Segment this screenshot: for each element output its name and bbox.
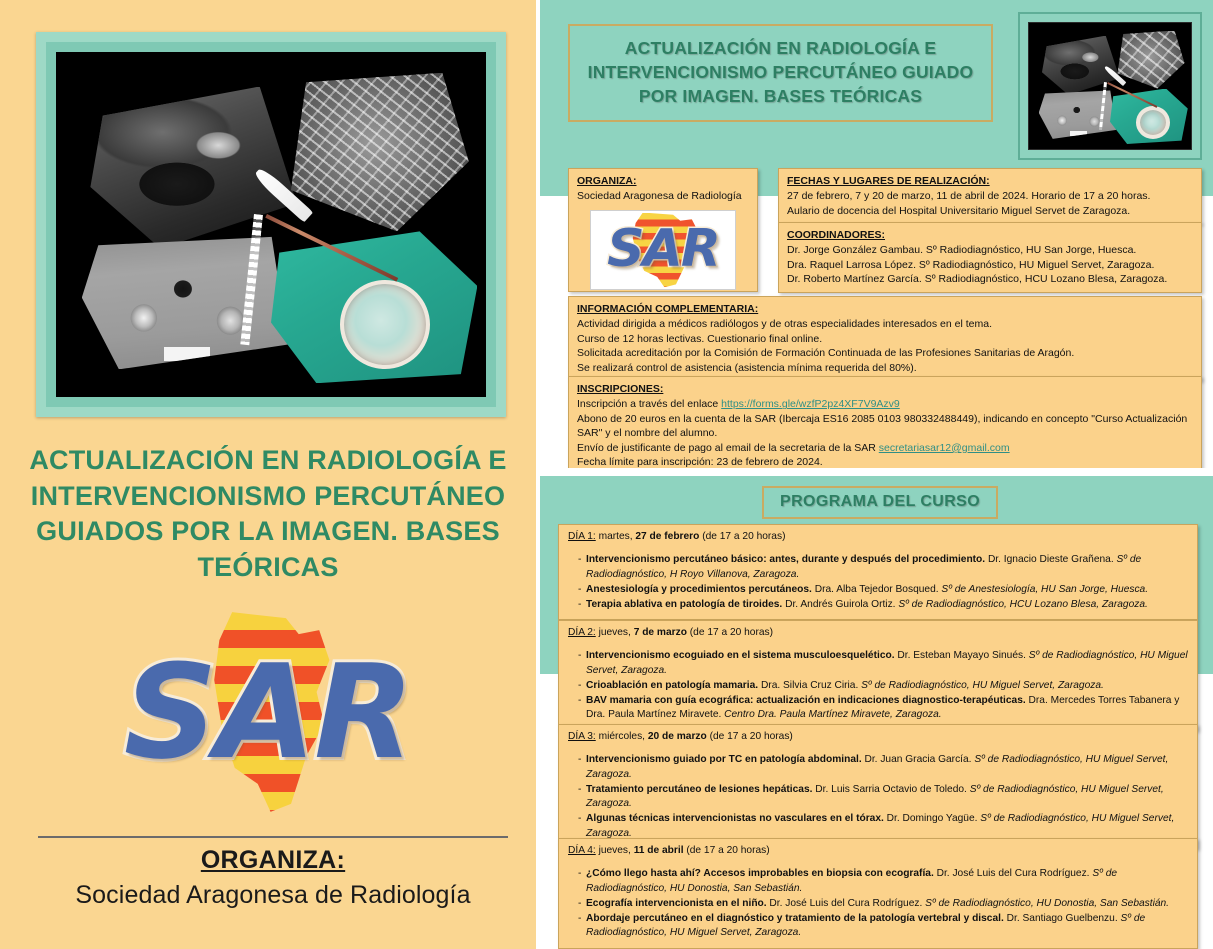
talk-speaker: Dr. Esteban Mayayo Sinués. [895,650,1029,661]
talk-title: Crioablación en patología mamaria. [586,680,758,691]
list-item: ¿Cómo llego hasta ahí? Accesos improbabl… [578,867,1188,896]
talk-speaker: Dr. Domingo Yagüe. [884,813,980,824]
informacion-line: Curso de 12 horas lectivas. Cuestionario… [577,332,1193,346]
informacion-line: Actividad dirigida a médicos radiólogos … [577,317,1193,331]
programa-title: PROGRAMA DEL CURSO [762,486,998,519]
coordinadores-box: COORDINADORES: Dr. Jorge González Gambau… [778,222,1202,293]
procedure-collage-image [56,52,486,397]
sar-logo-large: SAR [140,608,396,816]
talk-affiliation: Centro Dra. Paula Martínez Miravete, Zar… [724,709,941,720]
list-item: Intervencionismo guiado por TC en patolo… [578,753,1188,782]
cover-image-inner-band [46,42,496,407]
day-box: DÍA 4: jueves, 11 de abril (de 17 a 20 h… [558,838,1198,949]
informacion-line: Se realizará control de asistencia (asis… [577,361,1193,375]
talk-list: Intervencionismo percutáneo básico: ante… [568,553,1188,612]
list-item: Ecografía intervencionista en el niño. D… [578,897,1188,911]
organiza-block: ORGANIZA: Sociedad Aragonesa de Radiolog… [38,846,508,910]
day-date: 20 de marzo [648,731,707,742]
day-label: DÍA 3: [568,731,596,742]
ultrasound-panel-image [1042,36,1120,95]
divider [38,836,508,838]
fechas-box: FECHAS Y LUGARES DE REALIZACIÓN: 27 de f… [778,168,1202,224]
day-box: DÍA 3: miércoles, 20 de marzo (de 17 a 2… [558,724,1198,849]
list-item: Crioablación en patología mamaria. Dra. … [578,679,1188,693]
talk-affiliation: Sº de Radiodiagnóstico, HCU Lozano Blesa… [898,599,1148,610]
organiza-box: ORGANIZA: Sociedad Aragonesa de Radiolog… [568,168,758,292]
talk-title: Intervencionismo guiado por TC en patolo… [586,754,862,765]
sar-logo-text: SAR [140,608,396,816]
day-date: 7 de marzo [634,627,687,638]
ultrasound-panel-image [90,87,296,249]
inscripciones-fecha-limite: Fecha límite para inscripción: 23 de feb… [577,455,1193,468]
talk-list: ¿Cómo llego hasta ahí? Accesos improbabl… [568,867,1188,940]
day-time: (de 17 a 20 horas) [684,845,770,856]
day-weekday: jueves, [596,627,634,638]
talk-title: Terapia ablativa en patología de tiroide… [586,599,782,610]
talk-title: Abordaje percutáneo en el diagnóstico y … [586,913,1004,924]
procedure-collage-thumbnail [1028,22,1192,150]
day-header: DÍA 1: martes, 27 de febrero (de 17 a 20… [568,530,1188,544]
day-header: DÍA 2: jueves, 7 de marzo (de 17 a 20 ho… [568,626,1188,640]
coordinador-line: Dra. Raquel Larrosa López. Sº Radiodiagn… [787,258,1193,272]
list-item: Anestesiología y procedimientos percután… [578,583,1188,597]
inscripciones-email-text: Envío de justificante de pago al email d… [577,442,879,454]
day-box: DÍA 2: jueves, 7 de marzo (de 17 a 20 ho… [558,620,1198,731]
organiza-value: Sociedad Aragonesa de Radiología [38,881,508,910]
day-weekday: jueves, [596,845,634,856]
organiza-value: Sociedad Aragonesa de Radiología [577,190,742,202]
talk-title: Intervencionismo ecoguiado en el sistema… [586,650,895,661]
informacion-line: Solicitada acreditación por la Comisión … [577,346,1193,360]
coordinadores-heading: COORDINADORES: [787,228,1193,242]
inscripciones-enlace-line: Inscripción a través del enlace https://… [577,397,1193,411]
day-label: DÍA 2: [568,627,596,638]
cover-image-frame [36,32,506,417]
day-box: DÍA 1: martes, 27 de febrero (de 17 a 20… [558,524,1198,620]
talk-title: Anestesiología y procedimientos percután… [586,584,812,595]
inscripciones-enlace-text: Inscripción a través del enlace [577,398,721,410]
day-time: (de 17 a 20 horas) [707,731,793,742]
coordinador-line: Dr. Roberto Martínez García. Sº Radiodia… [787,272,1193,286]
inscripciones-heading: INSCRIPCIONES: [577,382,1193,396]
organiza-label: ORGANIZA: [38,846,508,875]
slide-programa: PROGRAMA DEL CURSO DÍA 1: martes, 27 de … [540,476,1213,949]
sar-logo-text: SAR [591,211,735,289]
list-item: Abordaje percutáneo en el diagnóstico y … [578,912,1188,941]
inscripciones-email-line: Envío de justificante de pago al email d… [577,441,1193,455]
day-label: DÍA 4: [568,845,596,856]
talk-affiliation: Sº de Anestesiología, HU San Jorge, Hues… [941,584,1148,595]
talk-title: Tratamiento percutáneo de lesiones hepát… [586,784,812,795]
talk-list: Intervencionismo guiado por TC en patolo… [568,753,1188,841]
left-slide: ACTUALIZACIÓN EN RADIOLOGÍA E INTERVENCI… [0,0,536,949]
informacion-complementaria-box: INFORMACIÓN COMPLEMENTARIA: Actividad di… [568,296,1202,381]
day-time: (de 17 a 20 horas) [699,531,785,542]
talk-speaker: Dr. Andrés Guirola Ortiz. [782,599,898,610]
day-date: 11 de abril [634,845,684,856]
day-weekday: martes, [596,531,636,542]
fechas-line: Aulario de docencia del Hospital Univers… [787,204,1193,218]
specimen-cup-image [1136,106,1170,139]
fechas-line: 27 de febrero, 7 y 20 de marzo, 11 de ab… [787,189,1193,203]
registration-form-link[interactable]: https://forms.gle/wzfP2pz4XF7V9Azv9 [721,398,900,410]
left-page-title: ACTUALIZACIÓN EN RADIOLOGÍA E INTERVENCI… [22,443,514,586]
list-item: Algunas técnicas intervencionistas no va… [578,812,1188,841]
talk-speaker: Dra. Silvia Cruz Ciria. [758,680,861,691]
day-time: (de 17 a 20 horas) [687,627,773,638]
talk-title: Ecografía intervencionista en el niño. [586,898,767,909]
header-thumbnail-frame [1018,12,1202,160]
coordinador-line: Dr. Jorge González Gambau. Sº Radiodiagn… [787,243,1193,257]
fechas-heading: FECHAS Y LUGARES DE REALIZACIÓN: [787,174,1193,188]
day-weekday: miércoles, [596,731,648,742]
talk-speaker: Dr. Luis Sarria Octavio de Toledo. [812,784,969,795]
day-label: DÍA 1: [568,531,596,542]
specimen-cup-image [340,280,430,370]
talk-speaker: Dr. Juan Gracia García. [862,754,975,765]
talk-title: Algunas técnicas intervencionistas no va… [586,813,884,824]
list-item: Tratamiento percutáneo de lesiones hepát… [578,783,1188,812]
talk-title: ¿Cómo llego hasta ahí? Accesos improbabl… [586,868,934,879]
talk-speaker: Dr. Santiago Guelbenzu. [1004,913,1121,924]
list-item: BAV mamaria con guía ecográfica: actuali… [578,694,1188,723]
talk-title: Intervencionismo percutáneo básico: ante… [586,554,985,565]
talk-speaker: Dr. José Luis del Cura Rodríguez. [934,868,1093,879]
talk-affiliation: Sº de Radiodiagnóstico, HU Donostia, San… [925,898,1169,909]
talk-affiliation: Sº de Radiodiagnóstico, HU Miguel Servet… [861,680,1104,691]
organiza-heading: ORGANIZA: [577,174,749,188]
day-header: DÍA 3: miércoles, 20 de marzo (de 17 a 2… [568,730,1188,744]
slide-course-info: ACTUALIZACIÓN EN RADIOLOGÍA E INTERVENCI… [540,0,1213,468]
talk-speaker: Dra. Alba Tejedor Bosqued. [812,584,942,595]
day-date: 27 de febrero [635,531,699,542]
course-title: ACTUALIZACIÓN EN RADIOLOGÍA E INTERVENCI… [568,24,993,122]
secretary-email-link[interactable]: secretariasar12@gmail.com [879,442,1010,454]
talk-title: BAV mamaria con guía ecográfica: actuali… [586,695,1026,706]
informacion-heading: INFORMACIÓN COMPLEMENTARIA: [577,302,1193,316]
talk-list: Intervencionismo ecoguiado en el sistema… [568,649,1188,722]
day-header: DÍA 4: jueves, 11 de abril (de 17 a 20 h… [568,844,1188,858]
list-item: Intervencionismo percutáneo básico: ante… [578,553,1188,582]
inscripciones-pago-line: Abono de 20 euros en la cuenta de la SAR… [577,412,1193,441]
list-item: Terapia ablativa en patología de tiroide… [578,598,1188,612]
list-item: Intervencionismo ecoguiado en el sistema… [578,649,1188,678]
inscripciones-box: INSCRIPCIONES: Inscripción a través del … [568,376,1202,468]
talk-speaker: Dr. José Luis del Cura Rodríguez. [767,898,926,909]
talk-speaker: Dr. Ignacio Dieste Grañena. [985,554,1116,565]
sar-logo-small: SAR [590,210,736,290]
